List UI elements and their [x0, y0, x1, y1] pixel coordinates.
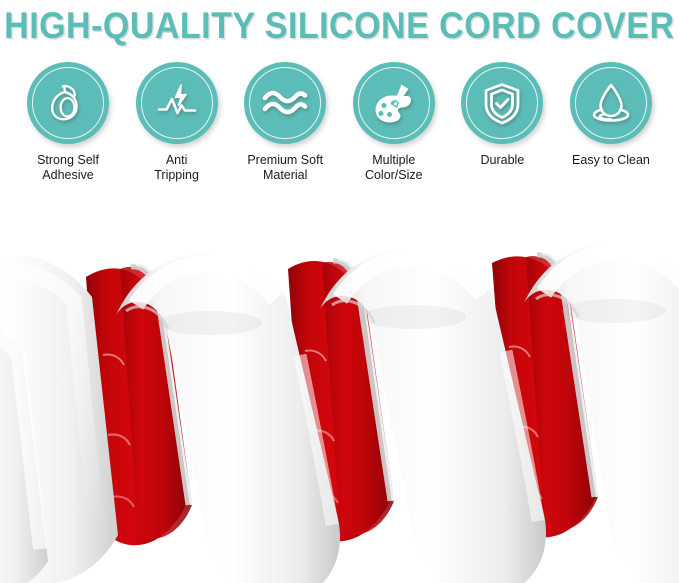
feature-item-easy-to-clean: Easy to Clean [561, 62, 661, 192]
spiral-illustration [0, 205, 679, 583]
feature-item-strong-self-adhesive: Strong Self Adhesive [18, 62, 118, 192]
feature-label: Strong Self Adhesive [37, 153, 99, 182]
feature-badge [136, 62, 218, 144]
pulse-lightning-icon [153, 79, 201, 127]
product-photo-spiral-cord-cover [0, 205, 679, 583]
adhesive-tape-roll-icon [45, 80, 91, 126]
feature-item-premium-soft-material: Premium Soft Material [235, 62, 335, 192]
feature-item-durable: Durable [452, 62, 552, 192]
feature-label: Multiple Color/Size [365, 153, 423, 182]
feature-item-anti-tripping: Anti Tripping [127, 62, 227, 192]
feature-label: Anti Tripping [154, 153, 199, 182]
shield-check-icon [479, 79, 525, 127]
page-title: HIGH-QUALITY SILICONE CORD COVER [4, 7, 674, 44]
feature-label: Premium Soft Material [247, 153, 323, 182]
title-banner: HIGH-QUALITY SILICONE CORD COVER [0, 2, 679, 48]
feature-label: Durable [480, 153, 524, 168]
feature-badge [461, 62, 543, 144]
feature-badge [353, 62, 435, 144]
water-droplet-icon [587, 79, 635, 127]
product-infographic: HIGH-QUALITY SILICONE CORD COVER Strong … [0, 0, 679, 583]
feature-badge [570, 62, 652, 144]
feature-list: Strong Self Adhesive Anti Tripping [0, 62, 679, 192]
paint-palette-brush-icon [370, 79, 418, 127]
feature-badge [27, 62, 109, 144]
feature-item-multiple-color-size: Multiple Color/Size [344, 62, 444, 192]
wavy-lines-icon [260, 81, 310, 125]
feature-label: Easy to Clean [572, 153, 650, 168]
feature-badge [244, 62, 326, 144]
